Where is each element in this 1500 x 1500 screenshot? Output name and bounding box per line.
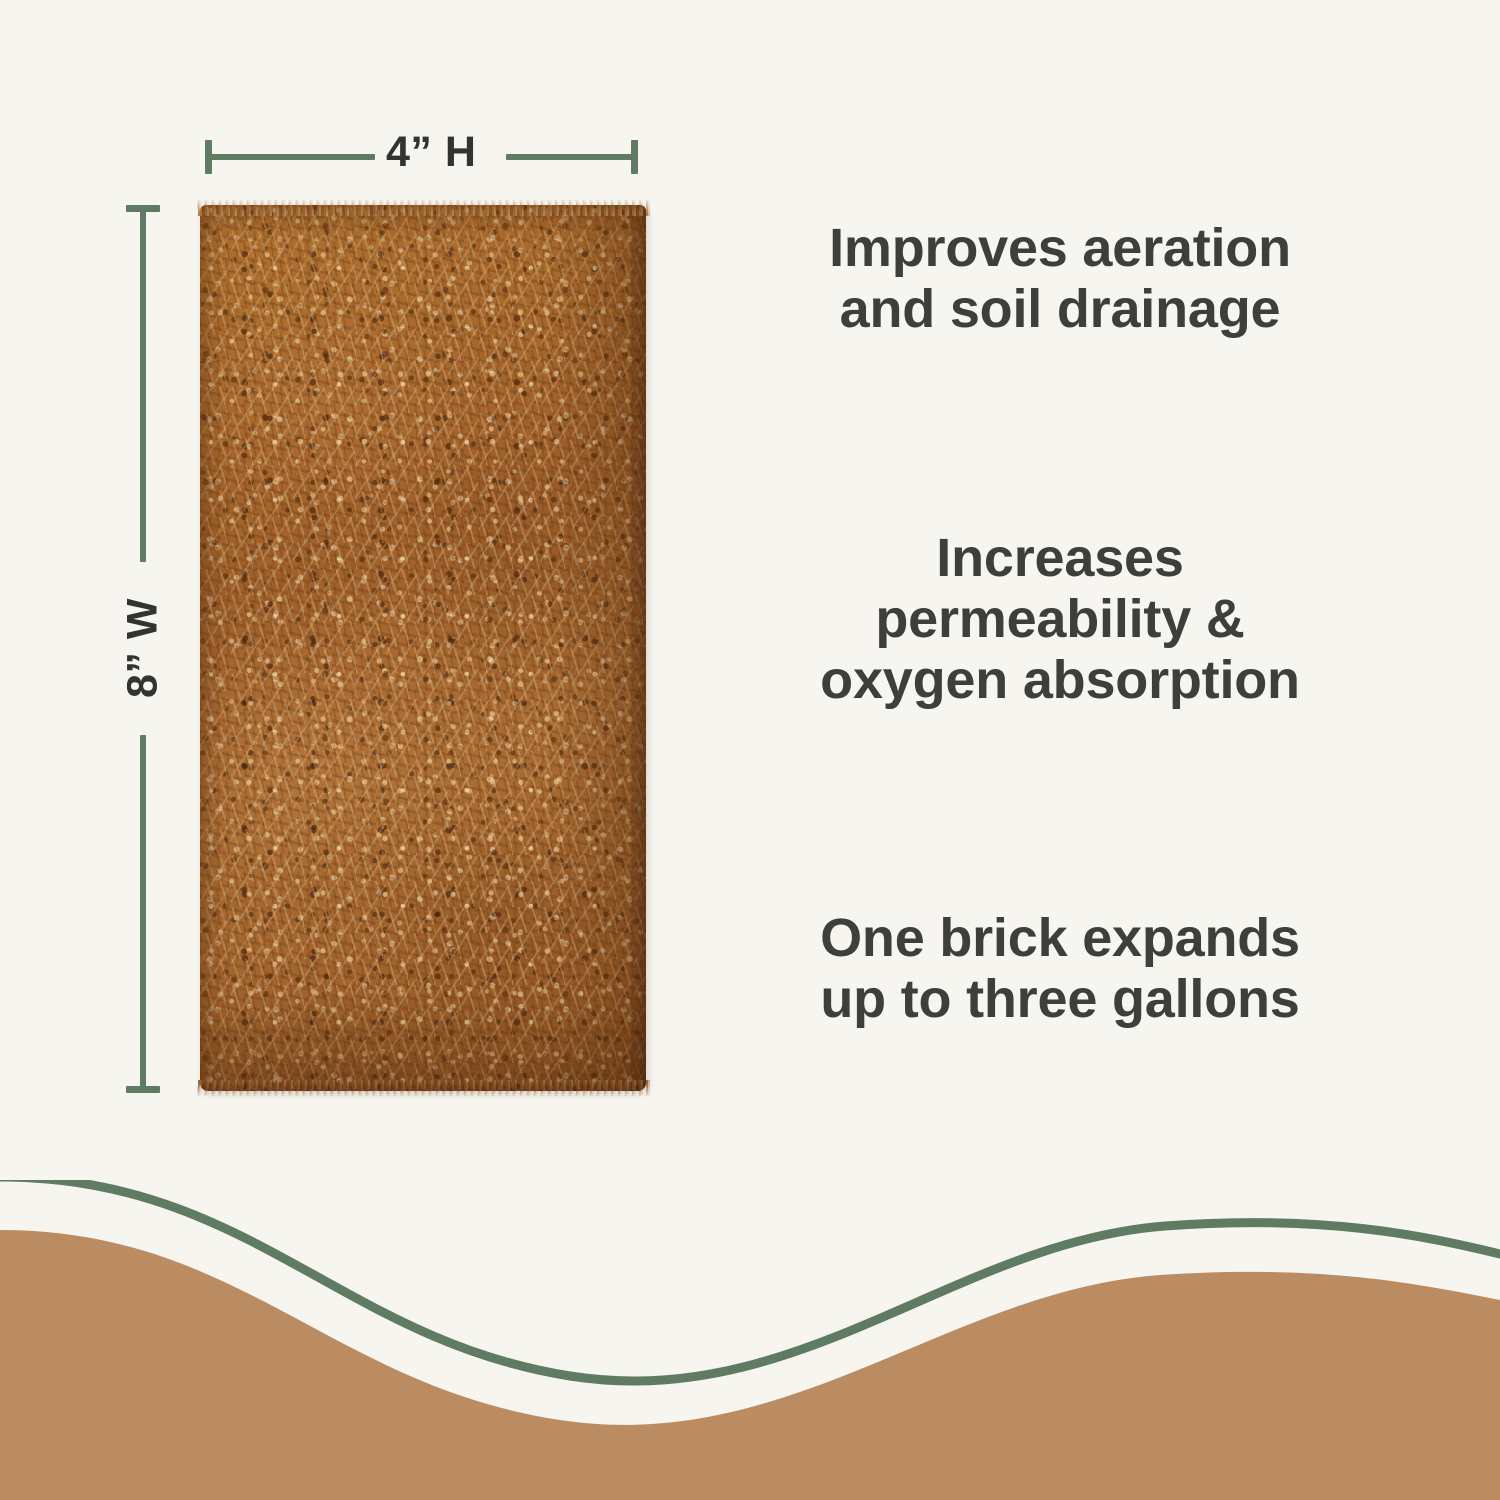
height-dimension-line-left	[207, 154, 375, 160]
benefit-text-aeration: Improves aeration and soil drainage	[740, 218, 1380, 340]
benefit-text-permeability: Increases permeability & oxygen absorpti…	[740, 528, 1380, 711]
height-dimension-label: 4” H	[386, 128, 476, 177]
width-dimension-line-top	[140, 207, 146, 562]
bottom-wave-decoration	[0, 1180, 1500, 1500]
benefit-line: permeability &	[740, 589, 1380, 650]
benefit-line: up to three gallons	[740, 969, 1380, 1030]
benefit-line: oxygen absorption	[740, 650, 1380, 711]
width-dimension-bottom-cap	[126, 1086, 160, 1093]
benefit-line: Increases	[740, 528, 1380, 589]
width-dimension-line-bottom	[140, 735, 146, 1090]
height-dimension-line-right	[506, 154, 637, 160]
benefit-line: and soil drainage	[740, 279, 1380, 340]
benefit-line: One brick expands	[740, 908, 1380, 969]
width-dimension-label: 8” W	[119, 598, 168, 698]
height-dimension-right-cap	[631, 140, 638, 174]
coco-coir-brick-image	[200, 205, 646, 1091]
infographic-canvas: 4” H 8” W Improves aeration and soil dra…	[0, 0, 1500, 1500]
benefit-line: Improves aeration	[740, 218, 1380, 279]
benefit-text-expansion: One brick expands up to three gallons	[740, 908, 1380, 1030]
